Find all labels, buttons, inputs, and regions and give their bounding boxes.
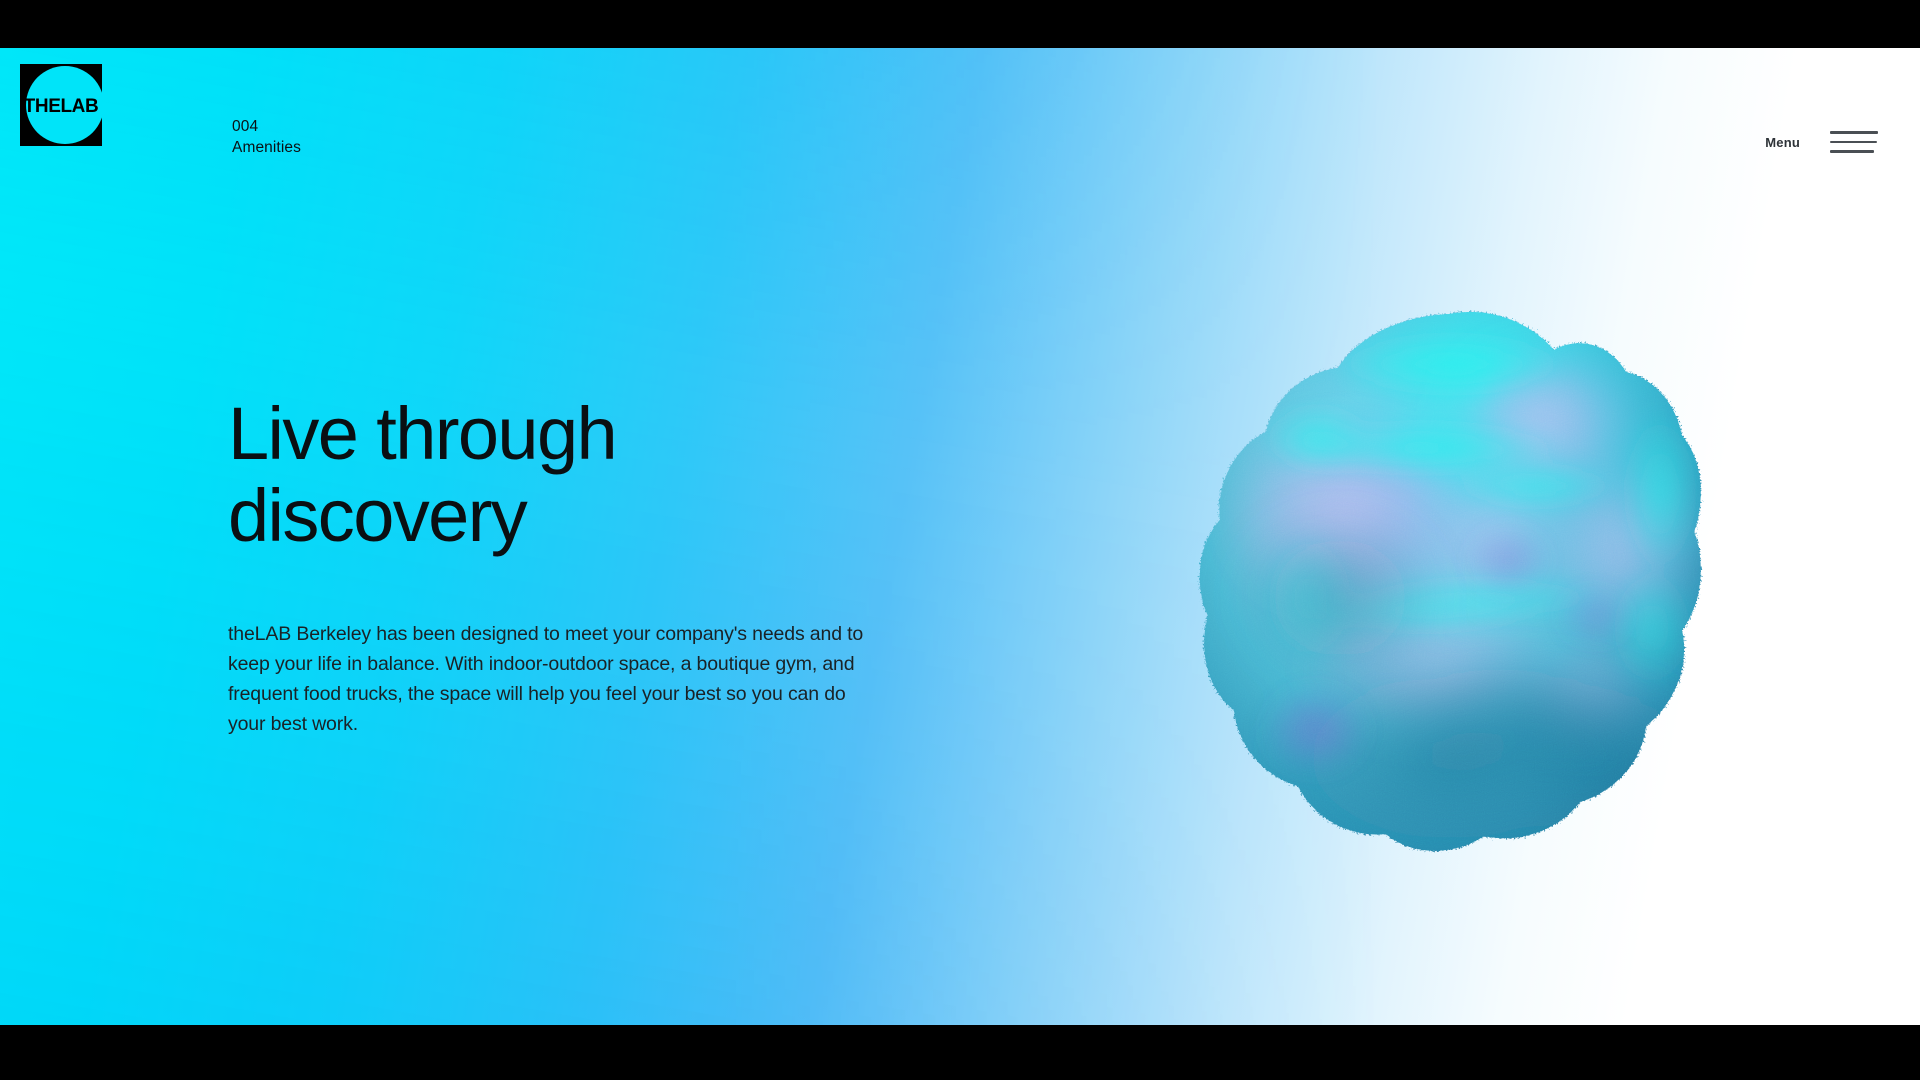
organic-blob-render — [1190, 298, 1710, 878]
section-number: 004 — [232, 116, 301, 137]
thelab-logo[interactable]: THELAB — [20, 64, 102, 146]
letterbox-bar-top — [0, 0, 1920, 48]
hamburger-line-3 — [1830, 150, 1874, 153]
page-title: Live through discovery — [228, 393, 908, 557]
site-header: THELAB 004 Amenities Menu — [0, 48, 1920, 188]
hamburger-line-2 — [1830, 141, 1877, 144]
hero-stage: THELAB 004 Amenities Menu Live through d… — [0, 48, 1920, 1025]
hamburger-line-1 — [1830, 131, 1878, 134]
menu-label: Menu — [1765, 135, 1800, 150]
hamburger-icon[interactable] — [1830, 131, 1878, 153]
hero-description: theLAB Berkeley has been designed to mee… — [228, 619, 886, 740]
svg-text:THELAB: THELAB — [24, 96, 99, 117]
section-label: Amenities — [232, 137, 301, 158]
menu-button[interactable]: Menu — [1765, 131, 1878, 153]
section-meta: 004 Amenities — [232, 116, 301, 159]
letterbox-bar-bottom — [0, 1025, 1920, 1080]
hero-copy: Live through discovery theLAB Berkeley h… — [228, 393, 908, 739]
